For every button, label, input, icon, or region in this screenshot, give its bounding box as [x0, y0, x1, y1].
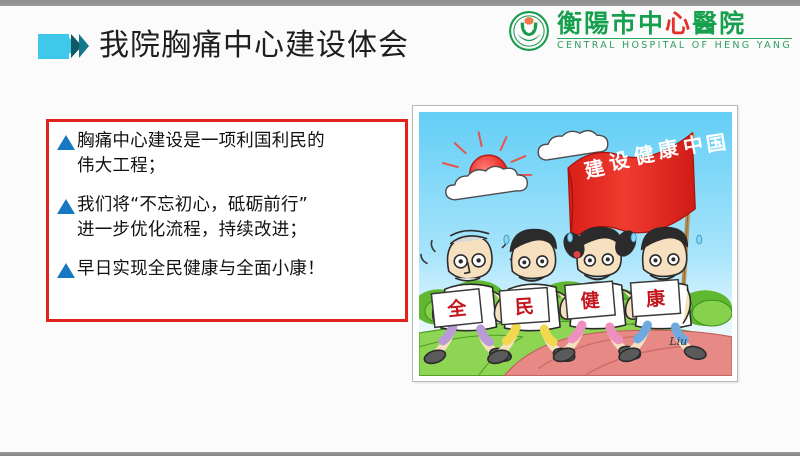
- bullet-line: 进一步优化流程，持续改进；: [77, 218, 308, 243]
- hospital-name-en: CENTRAL HOSPITAL OF HENG YANG: [557, 40, 792, 51]
- list-item: 胸痛中心建设是一项利国利民的 伟大工程；: [57, 129, 399, 179]
- illustration-signature: Liu: [668, 335, 687, 348]
- hospital-name-cn-part2: 醫院: [692, 9, 746, 38]
- list-item: 我们将“不忘初心，砥砺前行” 进一步优化流程，持续改进；: [57, 193, 399, 243]
- bullet-line: 胸痛中心建设是一项利国利民的: [77, 129, 325, 154]
- bullet-text: 早日实现全民健康与全面小康！: [77, 257, 325, 282]
- svg-text:民: 民: [514, 295, 534, 318]
- key-points-box: 胸痛中心建设是一项利国利民的 伟大工程； 我们将“不忘初心，砥砺前行” 进一步优…: [46, 119, 408, 322]
- bullet-line: 我们将“不忘初心，砥砺前行”: [77, 193, 308, 218]
- triangle-bullet-icon: [57, 199, 75, 214]
- svg-text:健: 健: [580, 288, 601, 313]
- title-chevron-marker-icon: [38, 34, 89, 59]
- illustration-healthy-china: 建 设 健 康 中 国: [419, 112, 732, 376]
- hospital-logo: 衡陽市中心醫院 CENTRAL HOSPITAL OF HENG YANG: [508, 8, 792, 54]
- video-player: 我院胸痛中心建设体会 衡陽市中心醫院 CENTRAL HOSPITAL OF H…: [0, 0, 800, 456]
- triangle-bullet-icon: [57, 263, 75, 278]
- svg-text:康: 康: [645, 286, 666, 310]
- hospital-emblem-icon: [508, 10, 550, 52]
- svg-text:中: 中: [681, 133, 705, 159]
- bullet-line: 早日实现全民健康与全面小康！: [77, 257, 325, 282]
- presentation-slide: 我院胸痛中心建设体会 衡陽市中心醫院 CENTRAL HOSPITAL OF H…: [0, 6, 800, 452]
- letterbox-bottom-bar: [0, 452, 800, 456]
- bullet-list: 胸痛中心建设是一项利国利民的 伟大工程； 我们将“不忘初心，砥砺前行” 进一步优…: [49, 122, 405, 282]
- hospital-name-cn-heart: 心: [665, 9, 692, 38]
- bullet-text: 胸痛中心建设是一项利国利民的 伟大工程；: [77, 129, 325, 179]
- hospital-name-cn-part1: 衡陽市中: [557, 9, 665, 38]
- bullet-text: 我们将“不忘初心，砥砺前行” 进一步优化流程，持续改进；: [77, 193, 308, 243]
- slide-title-row: 我院胸痛中心建设体会: [38, 24, 409, 68]
- illustration-frame: 建 设 健 康 中 国: [412, 105, 738, 382]
- bullet-line: 伟大工程；: [77, 154, 325, 179]
- list-item: 早日实现全民健康与全面小康！: [57, 257, 399, 282]
- hospital-name-cn: 衡陽市中心醫院: [557, 11, 792, 37]
- logo-divider: [557, 38, 792, 39]
- triangle-bullet-icon: [57, 135, 75, 150]
- svg-text:全: 全: [445, 296, 468, 321]
- svg-text:国: 国: [704, 131, 727, 157]
- slide-title: 我院胸痛中心建设体会: [99, 31, 409, 61]
